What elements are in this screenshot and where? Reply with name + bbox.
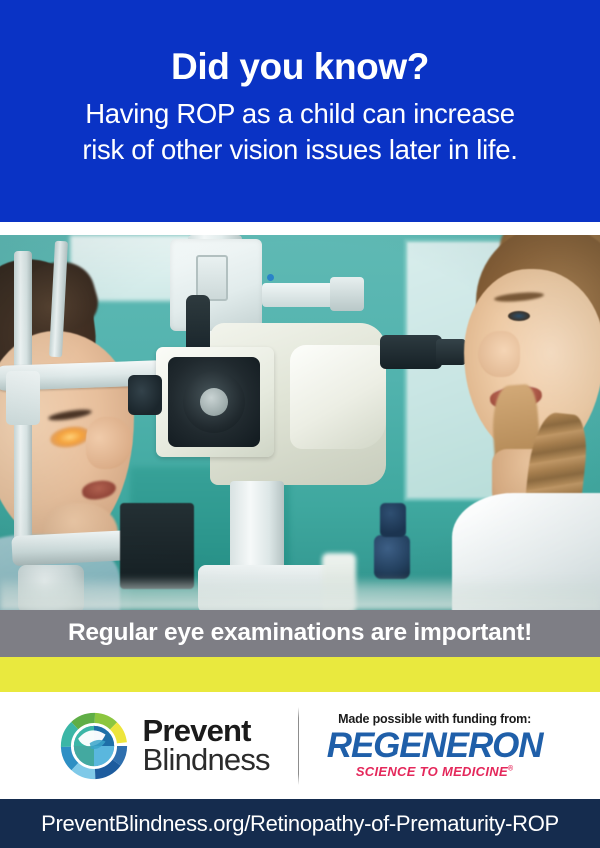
slit-lamp-objective-lens	[200, 388, 228, 416]
eye-exam-photo	[0, 235, 600, 610]
subheadline-line-1: Having ROP as a child can increase	[82, 96, 517, 132]
yellow-accent-bar	[0, 657, 600, 692]
slit-lamp-eyepiece-cap	[436, 339, 466, 365]
slit-lamp-blue-knob	[374, 535, 410, 579]
header-subheadline: Having ROP as a child can increase risk …	[82, 96, 517, 168]
slit-lamp-hood	[290, 345, 386, 449]
page-title: Did you know?	[171, 48, 429, 87]
prevent-blindness-wordmark: Prevent Blindness	[143, 717, 270, 774]
slit-lamp-arm	[262, 283, 340, 307]
slit-lamp-eyepiece	[380, 335, 442, 369]
logo-word-blindness: Blindness	[143, 746, 270, 775]
prevent-blindness-eye-icon	[58, 710, 130, 782]
subheadline-line-2: risk of other vision issues later in lif…	[82, 132, 517, 168]
regeneron-tagline: SCIENCE TO MEDICINE®	[356, 764, 514, 779]
regeneron-wordmark: REGENERON	[327, 729, 543, 763]
footer-url-bar: PreventBlindness.org/Retinopathy-of-Prem…	[0, 799, 600, 848]
header-banner: Did you know? Having ROP as a child can …	[0, 0, 600, 222]
indicator-light	[267, 274, 274, 281]
regeneron-tagline-text: SCIENCE TO MEDICINE	[356, 764, 508, 779]
chin-rest	[11, 530, 134, 566]
funding-credit-text: Made possible with funding from:	[338, 712, 531, 726]
regeneron-logo: Made possible with funding from: REGENER…	[299, 712, 543, 779]
website-url[interactable]: PreventBlindness.org/Retinopathy-of-Prem…	[41, 811, 559, 837]
registered-mark-icon: ®	[508, 765, 513, 772]
callout-band: Regular eye examinations are important!	[0, 610, 600, 657]
slit-lamp-side-barrel	[128, 375, 162, 415]
headrest-bracket	[6, 371, 40, 425]
doctor-nose	[478, 331, 520, 377]
callout-text: Regular eye examinations are important!	[68, 621, 532, 646]
prevent-blindness-logo: Prevent Blindness	[58, 710, 298, 782]
poster-root: Did you know? Having ROP as a child can …	[0, 0, 600, 848]
header-photo-spacer	[0, 222, 600, 235]
foreground-blur	[0, 576, 600, 610]
logo-section: Prevent Blindness Made possible with fun…	[0, 692, 600, 799]
slit-lamp-blue-knob-small	[380, 503, 406, 537]
slit-lamp-arm-tip	[330, 277, 364, 311]
doctor-eye	[508, 311, 530, 321]
